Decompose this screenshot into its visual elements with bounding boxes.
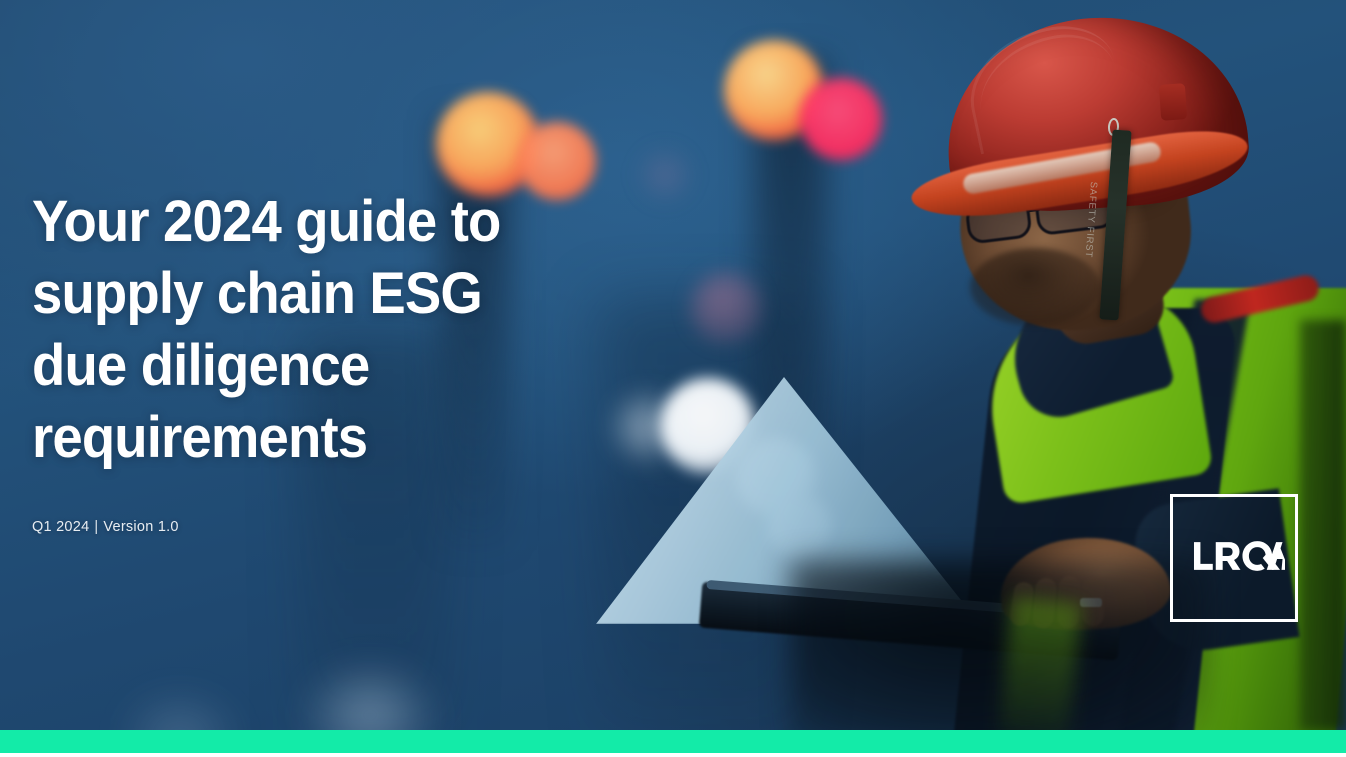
bottom-right-shadow (790, 560, 1210, 730)
page-title-line-4: requirements (32, 405, 367, 470)
page-title: Your 2024 guide to supply chain ESG due … (32, 186, 596, 474)
meta-version: Version 1.0 (103, 519, 178, 535)
page-title-line-1: Your 2024 guide to (32, 189, 500, 254)
vest-lowlight (998, 597, 1082, 730)
vest-fold-shadow (1300, 320, 1346, 730)
hard-hat-notch (1159, 83, 1187, 121)
meta-quarter: Q1 2024 (32, 519, 89, 535)
beard (970, 248, 1100, 326)
document-meta: Q1 2024|Version 1.0 (32, 519, 179, 535)
bokeh-glow-bottom-2 (120, 690, 240, 730)
lrqa-logo (1170, 494, 1298, 622)
page-title-line-2: supply chain ESG (32, 261, 482, 326)
page-title-line-3: due diligence (32, 333, 369, 398)
page-bottom-margin (0, 753, 1346, 757)
lrqa-wordmark-icon (1193, 539, 1285, 573)
report-cover-page: SAFETY FIRST Your 2024 guide to supply c… (0, 0, 1346, 757)
brand-accent-bar (0, 730, 1346, 753)
meta-separator: | (89, 519, 103, 535)
